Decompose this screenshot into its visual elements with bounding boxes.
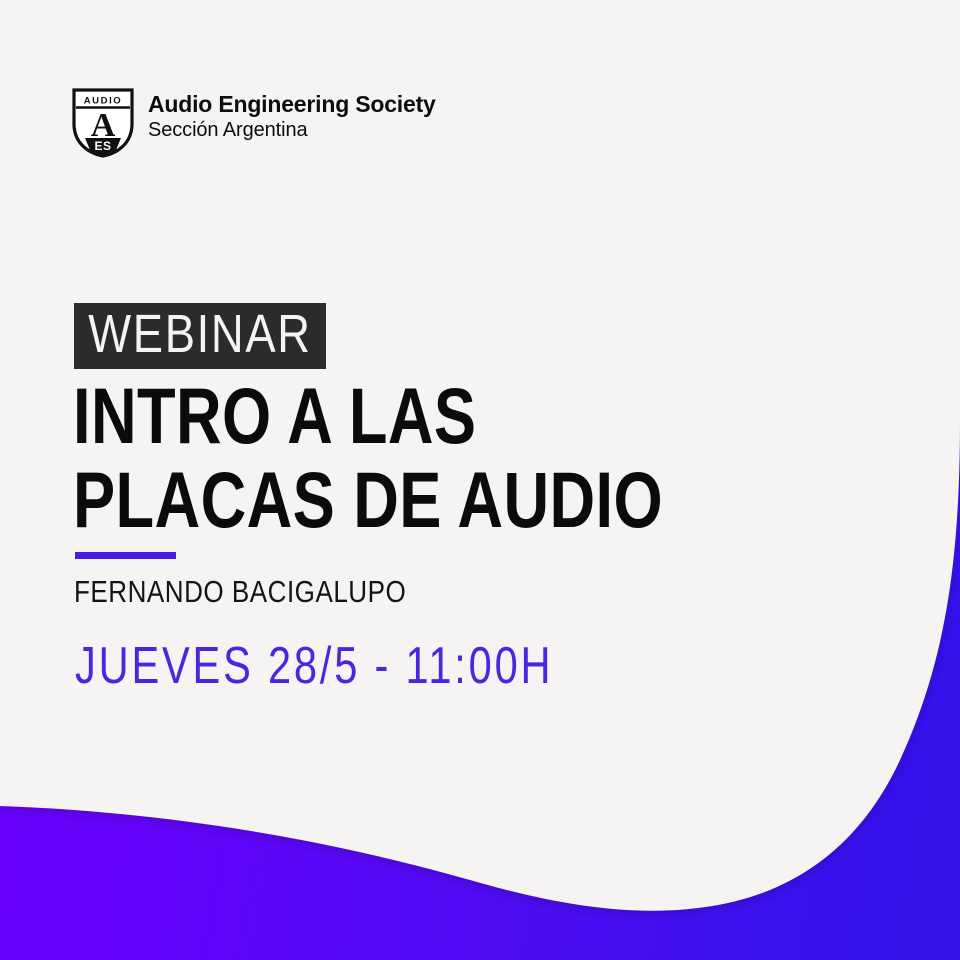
section-name: Sección Argentina [148, 118, 436, 142]
webinar-poster: AUDIO A ES Audio Engineering Society Sec… [0, 0, 960, 960]
accent-rule-divider [75, 552, 176, 559]
event-title: INTRO A LAS PLACAS DE AUDIO [73, 374, 663, 542]
svg-text:AUDIO: AUDIO [84, 96, 123, 107]
speaker-name: FERNANDO BACIGALUPO [74, 574, 406, 610]
svg-text:ES: ES [94, 139, 111, 153]
organization-name: Audio Engineering Society [148, 92, 436, 117]
poster-content: AUDIO A ES Audio Engineering Society Sec… [0, 0, 960, 960]
aes-shield-icon: AUDIO A ES [72, 88, 134, 158]
logo-text-block: Audio Engineering Society Sección Argent… [148, 88, 436, 142]
event-datetime: JUEVES 28/5 - 11:00H [75, 636, 553, 696]
aes-logo-lockup: AUDIO A ES Audio Engineering Society Sec… [72, 88, 436, 158]
event-title-line-1: INTRO A LAS [73, 374, 663, 458]
webinar-tag-badge: WEBINAR [74, 303, 326, 369]
event-title-line-2: PLACAS DE AUDIO [73, 458, 663, 542]
